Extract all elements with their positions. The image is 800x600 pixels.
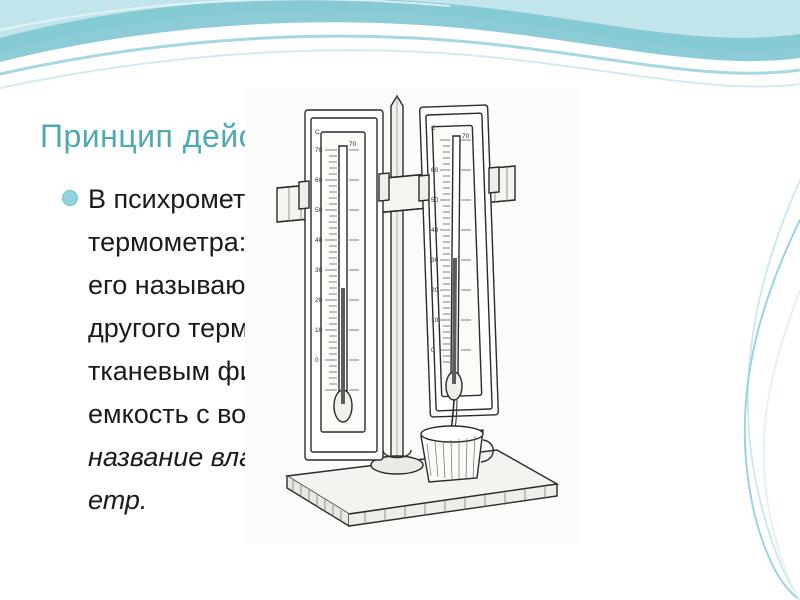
svg-text:70: 70 [315, 147, 323, 154]
svg-text:C: C [315, 129, 320, 136]
svg-text:30: 30 [431, 257, 439, 264]
svg-text:C: C [431, 125, 436, 132]
svg-text:60: 60 [315, 177, 323, 184]
svg-text:70: 70 [462, 133, 470, 140]
slide-canvas: Принцип действия психрометра. В психроме… [0, 0, 800, 600]
psychrometer-drawing: C 70 70 60 50 40 30 20 10 0 [245, 88, 579, 543]
svg-text:20: 20 [315, 297, 323, 304]
svg-text:40: 40 [315, 237, 323, 244]
svg-text:0: 0 [315, 357, 319, 364]
svg-text:50: 50 [315, 207, 323, 214]
body-line-8: етр. [88, 485, 147, 515]
bullet-circle-icon [62, 190, 78, 206]
svg-text:0: 0 [431, 347, 435, 354]
svg-text:50: 50 [431, 197, 439, 204]
svg-text:20: 20 [431, 287, 439, 294]
svg-text:40: 40 [431, 227, 439, 234]
svg-text:10: 10 [431, 317, 439, 324]
svg-text:30: 30 [315, 267, 323, 274]
svg-text:60: 60 [431, 167, 439, 174]
svg-text:10: 10 [315, 327, 323, 334]
svg-text:70: 70 [349, 141, 357, 148]
